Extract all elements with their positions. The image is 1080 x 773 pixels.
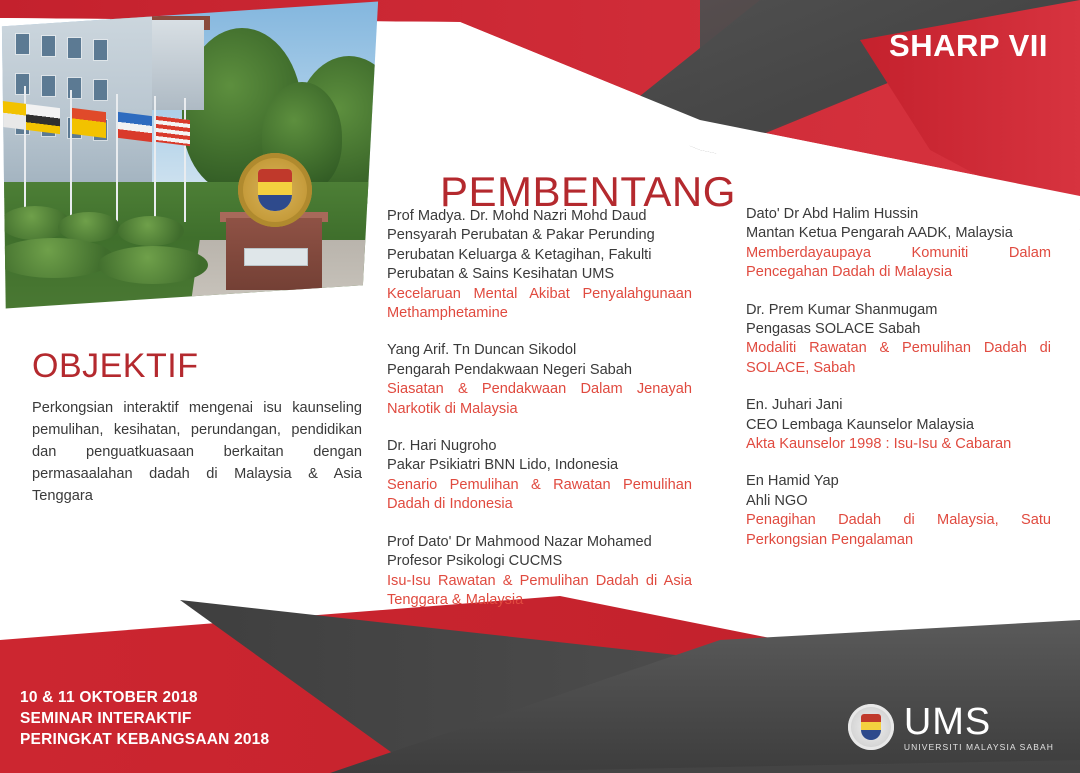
campus-photo-scene xyxy=(0,0,380,310)
objektif-heading: OBJEKTIF xyxy=(32,347,362,386)
crest-band-red xyxy=(861,714,881,722)
speaker-role: Mantan Ketua Pengarah AADK, Malaysia xyxy=(746,224,1051,243)
speaker-entry: En. Juhari Jani CEO Lembaga Kaunselor Ma… xyxy=(746,396,1051,454)
speaker-role: Pengarah Pendakwaan Negeri Sabah xyxy=(387,361,692,380)
ums-logo: UMS UNIVERSITI MALAYSIA SABAH xyxy=(848,703,1054,752)
speaker-topic: Penagihan Dadah di Malaysia, Satu Perkon… xyxy=(746,511,1051,550)
photo-flag xyxy=(26,104,60,134)
speaker-entry: Dr. Hari Nugroho Pakar Psikiatri BNN Lid… xyxy=(387,437,692,515)
crest-band-blue xyxy=(258,195,292,211)
speaker-topic: Siasatan & Pendakwaan Dalam Jenayah Nark… xyxy=(387,380,692,419)
photo-monument-plaque xyxy=(244,248,308,266)
photo-window xyxy=(42,76,55,96)
speaker-role: Profesor Psikologi CUCMS xyxy=(387,552,692,571)
speaker-topic: Senario Pemulihan & Rawatan Pemulihan Da… xyxy=(387,476,692,515)
photo-window xyxy=(42,36,55,56)
photo-window xyxy=(68,38,81,58)
photo-window xyxy=(94,80,107,100)
speaker-topic: Akta Kaunselor 1998 : Isu-Isu & Cabaran xyxy=(746,435,1051,454)
photo-hedge xyxy=(98,246,208,284)
speaker-name: Prof Madya. Dr. Mohd Nazri Mohd Daud xyxy=(387,207,692,226)
speaker-entry: Dr. Prem Kumar Shanmugam Pengasas SOLACE… xyxy=(746,301,1051,379)
footer-line2: SEMINAR INTERAKTIF xyxy=(20,709,269,730)
speaker-role: Pengasas SOLACE Sabah xyxy=(746,320,1051,339)
ums-crest-icon xyxy=(848,704,894,750)
photo-flag xyxy=(72,108,106,138)
crest-band-blue xyxy=(861,730,881,740)
event-title: SHARP VII xyxy=(889,28,1048,64)
speaker-role: Ahli NGO xyxy=(746,492,1051,511)
speaker-column-left: Prof Madya. Dr. Mohd Nazri Mohd Daud Pen… xyxy=(387,207,692,628)
ums-subtitle: UNIVERSITI MALAYSIA SABAH xyxy=(904,743,1054,752)
objektif-body: Perkongsian interaktif mengenai isu kaun… xyxy=(32,398,362,507)
speaker-role: Pensyarah Perubatan & Pakar Perunding Pe… xyxy=(387,226,692,284)
crest-band-red xyxy=(258,169,292,182)
speaker-role: CEO Lembaga Kaunselor Malaysia xyxy=(746,416,1051,435)
photo-flag xyxy=(118,112,152,142)
crest-shield xyxy=(861,714,881,740)
speaker-role: Pakar Psikiatri BNN Lido, Indonesia xyxy=(387,456,692,475)
speaker-topic: Memberdayaupaya Komuniti Dalam Pencegaha… xyxy=(746,244,1051,283)
photo-flag xyxy=(0,100,28,130)
speaker-entry: Prof Dato' Dr Mahmood Nazar Mohamed Prof… xyxy=(387,533,692,611)
speaker-name: En Hamid Yap xyxy=(746,472,1051,491)
ums-crest-icon xyxy=(238,153,312,227)
crest-shield xyxy=(258,169,292,211)
speaker-topic: Kecelaruan Mental Akibat Penyalahgunaan … xyxy=(387,285,692,324)
photo-flagpole xyxy=(184,98,186,222)
campus-photo xyxy=(0,0,380,310)
speaker-column-right: Dato' Dr Abd Halim Hussin Mantan Ketua P… xyxy=(746,205,1051,568)
ums-wordmark: UMS UNIVERSITI MALAYSIA SABAH xyxy=(904,703,1054,752)
crest-band-yellow xyxy=(258,182,292,195)
photo-flag xyxy=(156,116,190,146)
speaker-name: Yang Arif. Tn Duncan Sikodol xyxy=(387,341,692,360)
crest-band-yellow xyxy=(861,722,881,730)
photo-window xyxy=(16,74,29,94)
photo-hedge xyxy=(118,216,184,246)
photo-window xyxy=(94,40,107,60)
speaker-topic: Modaliti Rawatan & Pemulihan Dadah di SO… xyxy=(746,339,1051,378)
speaker-name: Dr. Hari Nugroho xyxy=(387,437,692,456)
speaker-name: En. Juhari Jani xyxy=(746,396,1051,415)
footer-event-details: 10 & 11 OKTOBER 2018 SEMINAR INTERAKTIF … xyxy=(20,688,269,751)
footer-line3: PERINGKAT KEBANGSAAN 2018 xyxy=(20,730,269,751)
speaker-entry: Prof Madya. Dr. Mohd Nazri Mohd Daud Pen… xyxy=(387,207,692,323)
speaker-name: Dr. Prem Kumar Shanmugam xyxy=(746,301,1051,320)
speaker-name: Dato' Dr Abd Halim Hussin xyxy=(746,205,1051,224)
objektif-section: OBJEKTIF Perkongsian interaktif mengenai… xyxy=(32,347,362,507)
footer-date: 10 & 11 OKTOBER 2018 xyxy=(20,688,269,709)
ums-name: UMS xyxy=(904,703,1054,741)
speaker-name: Prof Dato' Dr Mahmood Nazar Mohamed xyxy=(387,533,692,552)
speaker-entry: En Hamid Yap Ahli NGO Penagihan Dadah di… xyxy=(746,472,1051,550)
speaker-entry: Dato' Dr Abd Halim Hussin Mantan Ketua P… xyxy=(746,205,1051,283)
speaker-topic: Isu-Isu Rawatan & Pemulihan Dadah di Asi… xyxy=(387,572,692,611)
speaker-entry: Yang Arif. Tn Duncan Sikodol Pengarah Pe… xyxy=(387,341,692,419)
photo-window xyxy=(16,34,29,54)
poster-canvas: SHARP VII OBJEKTIF Perkongsian interakti… xyxy=(0,0,1080,773)
